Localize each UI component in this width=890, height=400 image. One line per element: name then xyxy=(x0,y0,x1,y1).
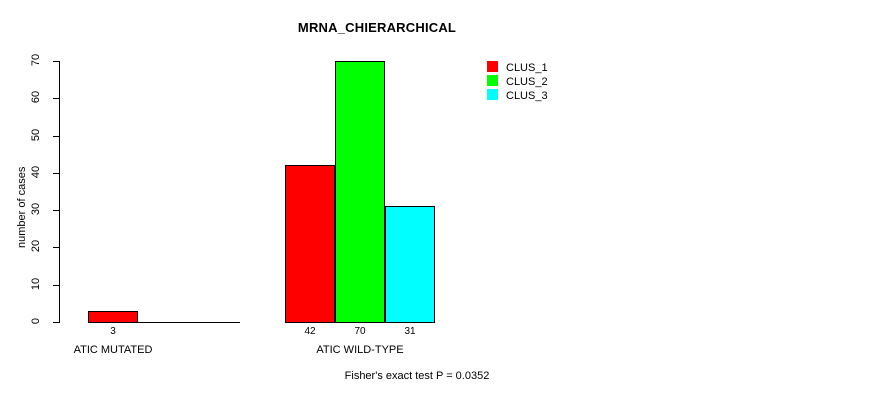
y-axis-tick-label: 60 xyxy=(30,86,42,108)
bar-value-label: 31 xyxy=(385,326,435,337)
y-axis-tick xyxy=(53,173,59,174)
bar[interactable] xyxy=(88,311,138,323)
y-axis-tick xyxy=(53,61,59,62)
y-axis-tick xyxy=(53,210,59,211)
y-axis-tick xyxy=(53,98,59,99)
y-axis-tick-label: 40 xyxy=(30,161,42,183)
legend-item[interactable]: CLUS_2 xyxy=(487,74,548,88)
y-axis-title-text: number of cases xyxy=(16,167,28,248)
bar-value-label: 3 xyxy=(88,326,138,337)
bar[interactable] xyxy=(285,165,335,323)
y-axis-tick-label: 50 xyxy=(30,124,42,146)
bar-value-label: 42 xyxy=(285,326,335,337)
y-axis-line xyxy=(59,61,60,323)
statistical-test-annotation: Fisher's exact test P = 0.0352 xyxy=(0,370,862,382)
legend-color-swatch xyxy=(487,61,498,72)
barplot-figure: MRNA_CHIERARCHICAL number of cases 01020… xyxy=(0,0,890,400)
legend-item-label: CLUS_2 xyxy=(506,75,548,89)
chart-title: MRNA_CHIERARCHICAL xyxy=(0,20,822,35)
legend-item-label: CLUS_3 xyxy=(506,89,548,103)
y-axis-tick-label: 20 xyxy=(30,235,42,257)
y-axis-tick-label: 30 xyxy=(30,198,42,220)
legend: CLUS_1CLUS_2CLUS_3 xyxy=(487,60,548,102)
legend-color-swatch xyxy=(487,89,498,100)
y-axis-tick-label: 0 xyxy=(30,310,42,332)
y-axis-tick xyxy=(53,322,59,323)
y-axis-tick-label: 70 xyxy=(30,49,42,71)
y-axis-tick xyxy=(53,285,59,286)
x-axis-group-label: ATIC MUTATED xyxy=(13,344,213,356)
legend-item-label: CLUS_1 xyxy=(506,61,548,75)
legend-color-swatch xyxy=(487,75,498,86)
bar[interactable] xyxy=(335,61,385,323)
x-axis-group-label: ATIC WILD-TYPE xyxy=(260,344,460,356)
legend-item[interactable]: CLUS_1 xyxy=(487,60,548,74)
y-axis-tick xyxy=(53,247,59,248)
bar[interactable] xyxy=(385,206,435,323)
bar-value-label: 70 xyxy=(335,326,385,337)
y-axis-tick-label: 10 xyxy=(30,273,42,295)
legend-item[interactable]: CLUS_3 xyxy=(487,88,548,102)
y-axis-tick xyxy=(53,136,59,137)
